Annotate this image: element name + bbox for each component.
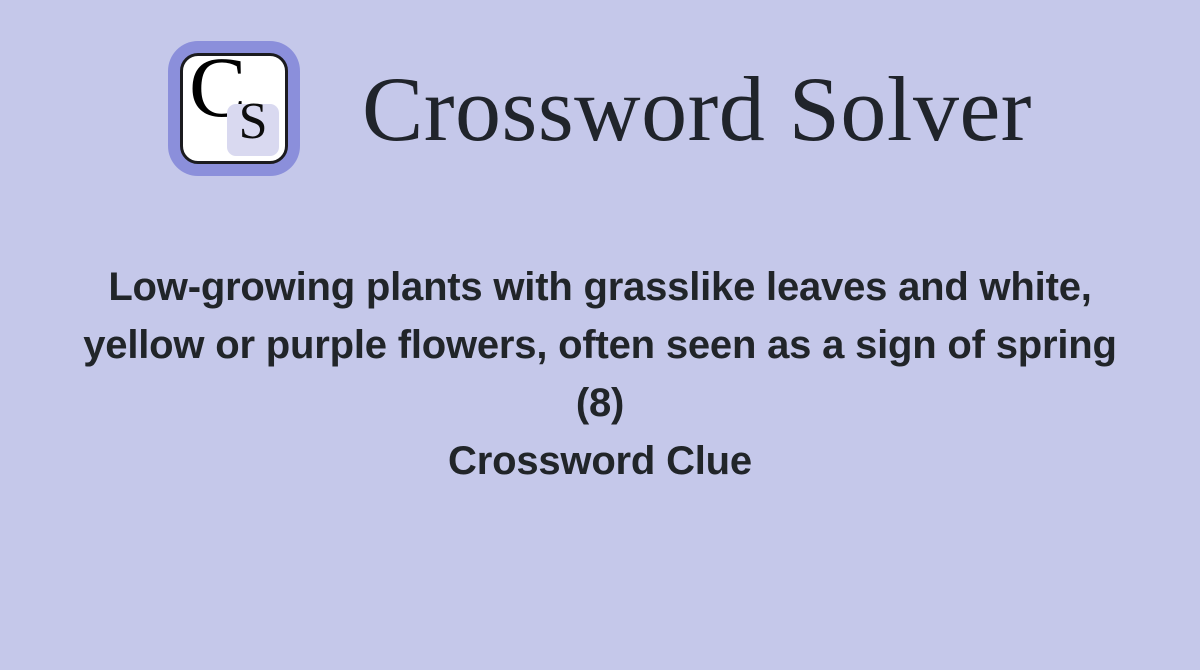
site-title[interactable]: Crossword Solver [362, 63, 1032, 155]
brand[interactable]: C S Crossword Solver [168, 1, 1032, 216]
logo-tile: C S [180, 53, 288, 164]
crossword-solver-logo-icon[interactable]: C S [168, 41, 300, 176]
site-header: C S Crossword Solver [0, 0, 1200, 225]
logo-letter-s: S [227, 96, 279, 148]
clue-kicker: Crossword Clue [50, 432, 1150, 490]
logo-letter-s-box: S [227, 104, 279, 156]
clue-block: Low-growing plants with grasslike leaves… [50, 258, 1150, 490]
page-root: C S Crossword Solver Low-growing plants … [0, 0, 1200, 670]
clue-text: Low-growing plants with grasslike leaves… [70, 258, 1130, 432]
